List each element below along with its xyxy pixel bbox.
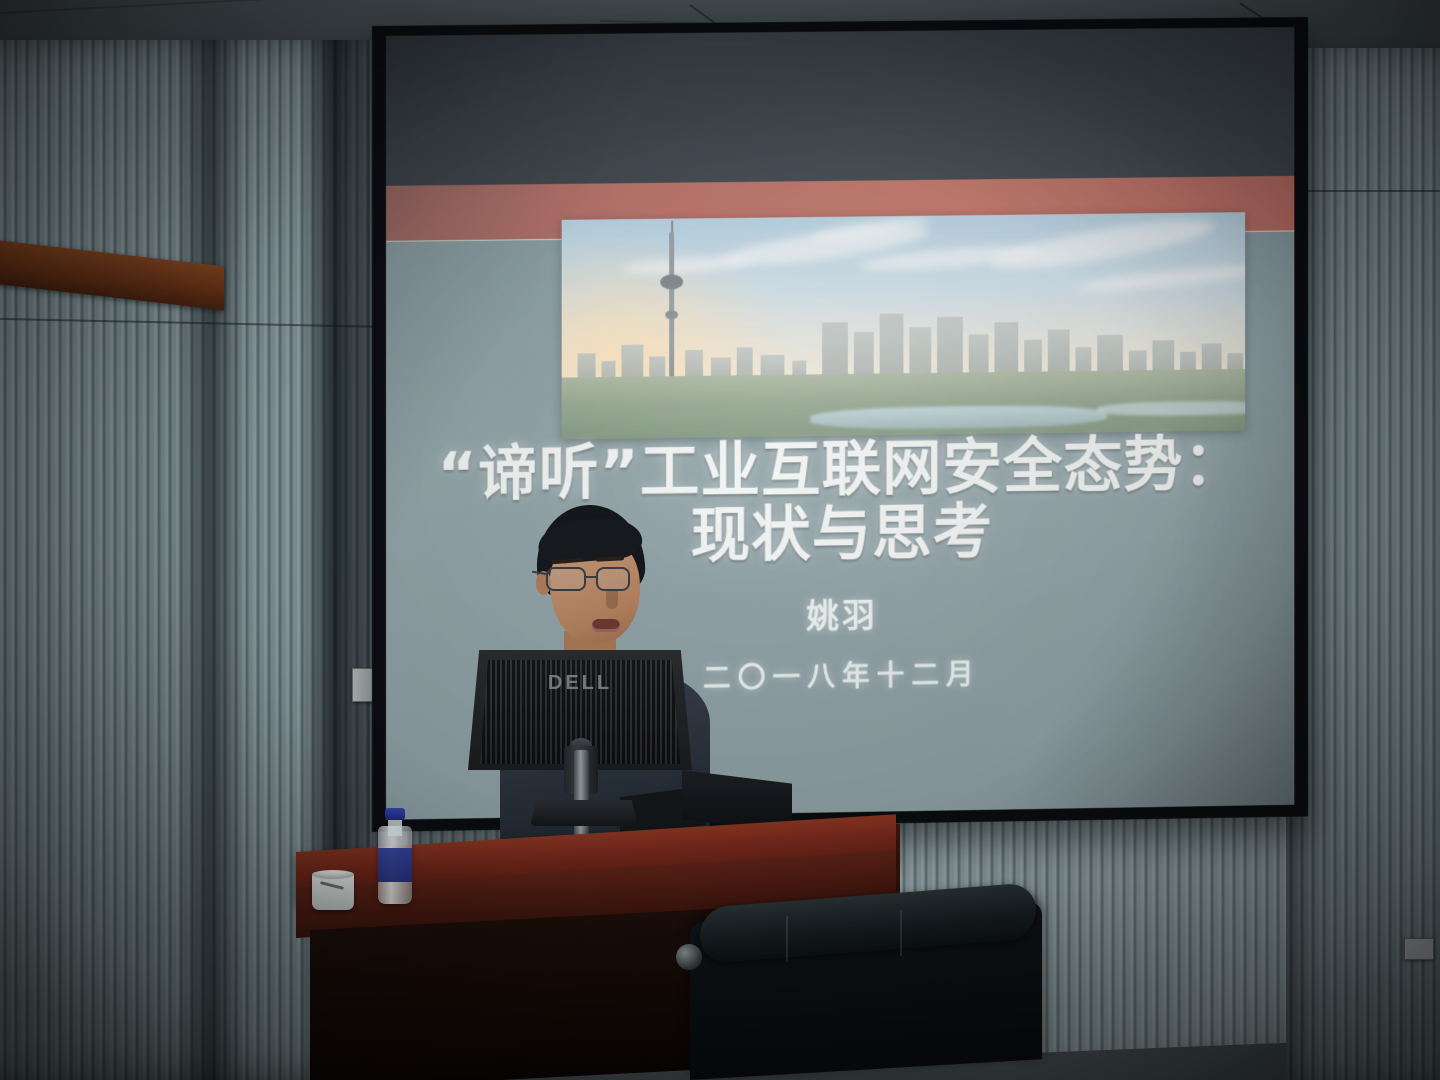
office-chair-seam <box>786 916 788 962</box>
photo-scene: “谛听”工业互联网安全态势： 现状与思考 姚羽 二〇一八年十二月 <box>0 0 1440 1080</box>
glasses-bridge <box>585 576 598 578</box>
ceiling-tile-seam <box>0 0 400 14</box>
office-chair-knob <box>676 944 702 970</box>
glasses-icon <box>544 567 648 593</box>
monitor-brand-logo: DELL <box>468 672 692 695</box>
projector-haze <box>562 212 1245 439</box>
wall-panel-seam <box>1286 190 1440 192</box>
presenter-mouth <box>592 619 620 632</box>
monitor: DELL <box>468 650 692 840</box>
wall-plate <box>352 668 374 702</box>
slide-city-photo <box>562 212 1245 439</box>
wall-pilaster-shadow <box>176 40 246 1080</box>
glasses-lens <box>596 567 630 591</box>
office-chair-seam <box>900 910 902 956</box>
wall-right <box>1286 48 1440 1080</box>
wall-outlet <box>1404 938 1434 960</box>
glasses-lens <box>546 567 586 591</box>
water-bottle-label <box>378 848 412 882</box>
monitor-base <box>530 800 638 826</box>
coffee-mug-rim <box>312 870 354 879</box>
water-bottle-cap <box>385 808 405 820</box>
water-bottle <box>378 808 412 904</box>
presenter-nose <box>606 591 618 609</box>
slide-header-band <box>386 27 1294 186</box>
